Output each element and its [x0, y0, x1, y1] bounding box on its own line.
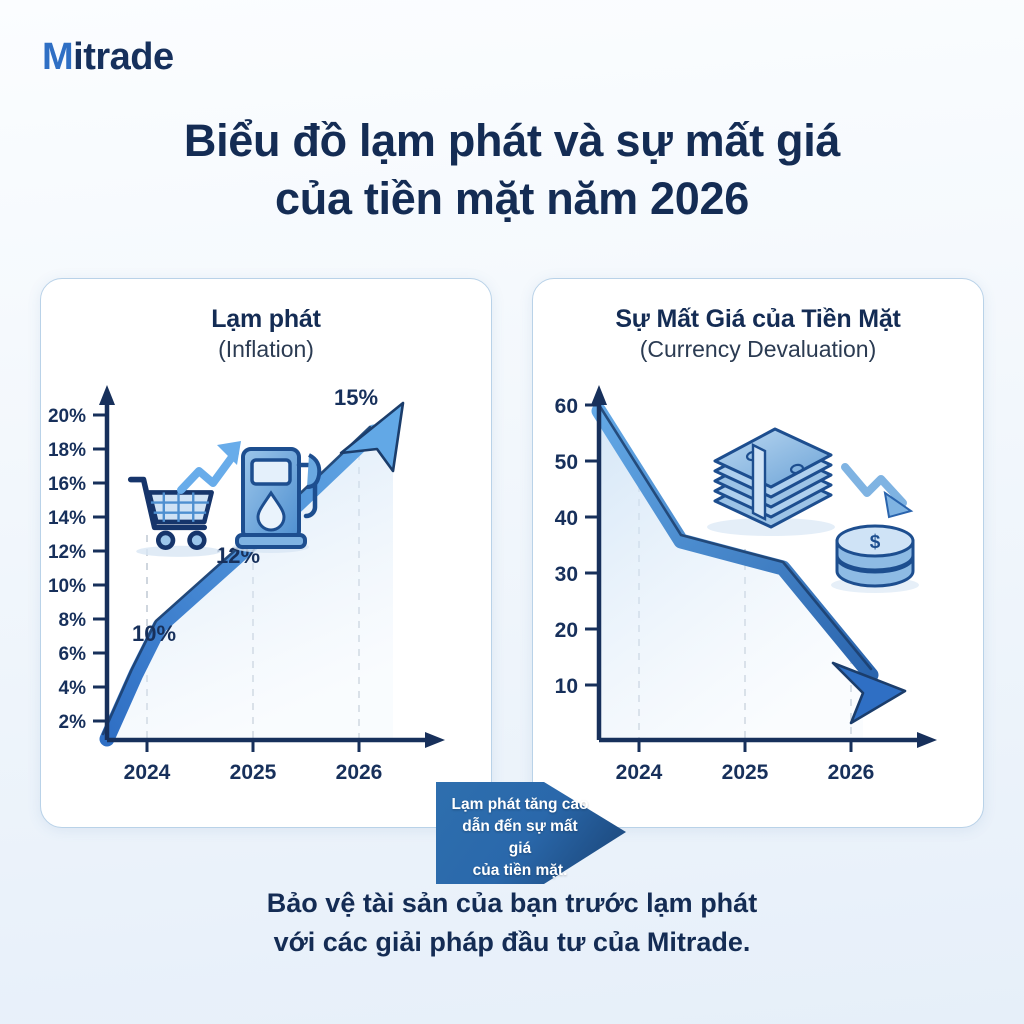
- inflation-panel-header: Lạm phát (Inflation): [41, 305, 491, 363]
- page-title-line-1: Biểu đồ lạm phát và sự mất giá: [50, 112, 974, 170]
- connector-arrow-text: Lạm phát tăng cao dẫn đến sự mất giá của…: [450, 794, 590, 882]
- y-tick-label: 8%: [59, 610, 87, 631]
- data-label-2026: 15%: [334, 385, 378, 410]
- x-tick-labels: 2024 2025 2026: [124, 761, 383, 784]
- x-tick-labels: 2024 2025 2026: [616, 761, 875, 784]
- logo-initial: M: [42, 36, 73, 78]
- coin-stack-icon: $: [831, 526, 919, 593]
- devaluation-panel-header: Sự Mất Giá của Tiền Mặt (Currency Devalu…: [533, 305, 983, 363]
- inflation-subtitle: (Inflation): [41, 336, 491, 363]
- y-tick-label: 50: [555, 451, 578, 474]
- y-axis-arrow: [99, 385, 115, 405]
- connector-line-1: Lạm phát tăng cao: [450, 794, 590, 816]
- inflation-chart-svg: 2% 4% 6% 8% 10% 12% 14% 16% 18% 20%: [41, 375, 492, 828]
- x-tick-label: 2025: [722, 761, 769, 784]
- charts-container: Lạm phát (Inflation): [40, 278, 984, 828]
- logo-wordmark: itrade: [73, 36, 173, 78]
- y-tick-label: 40: [555, 507, 578, 530]
- x-axis-arrow: [917, 732, 937, 748]
- x-tick-label: 2024: [124, 761, 171, 784]
- banknote-stack-icon: [707, 429, 835, 536]
- y-tick-label: 14%: [48, 508, 86, 529]
- devaluation-title: Sự Mất Giá của Tiền Mặt: [533, 305, 983, 334]
- connector-line-2: dẫn đến sự mất giá: [450, 816, 590, 860]
- inflation-chart: 2% 4% 6% 8% 10% 12% 14% 16% 18% 20%: [41, 375, 492, 828]
- y-tick-label: 60: [555, 395, 578, 418]
- y-tick-label: 6%: [59, 644, 87, 665]
- y-tick-label: 16%: [48, 474, 86, 495]
- devaluation-subtitle: (Currency Devaluation): [533, 336, 983, 363]
- inflation-title: Lạm phát: [41, 305, 491, 334]
- connector-line-3: của tiền mặt.: [450, 860, 590, 882]
- y-tick-label: 10: [555, 675, 578, 698]
- dollar-symbol: $: [870, 532, 881, 553]
- y-tick-label: 18%: [48, 440, 86, 461]
- x-tick-label: 2026: [336, 761, 383, 784]
- y-tick-labels: 2% 4% 6% 8% 10% 12% 14% 16% 18% 20%: [48, 406, 86, 733]
- y-tick-label: 2%: [59, 712, 87, 733]
- y-tick-labels: 10 20 30 40 50 60: [555, 395, 578, 698]
- page-title: Biểu đồ lạm phát và sự mất giá của tiền …: [0, 112, 1024, 227]
- rising-arrow-icon: [181, 441, 241, 490]
- y-axis-arrow: [591, 385, 607, 405]
- falling-arrow-icon: [845, 467, 911, 517]
- shopping-cart-icon: [131, 480, 221, 557]
- data-label-2024: 10%: [132, 621, 176, 646]
- brand-logo: Mitrade: [42, 38, 174, 76]
- y-tick-label: 20%: [48, 406, 86, 427]
- y-tick-label: 4%: [59, 678, 87, 699]
- footer-line-2: với các giải pháp đầu tư của Mitrade.: [110, 923, 914, 962]
- y-tick-label: 20: [555, 619, 578, 642]
- x-tick-label: 2025: [230, 761, 277, 784]
- y-tick-label: 12%: [48, 542, 86, 563]
- inflation-panel: Lạm phát (Inflation): [40, 278, 492, 828]
- page-title-line-2: của tiền mặt năm 2026: [50, 170, 974, 228]
- connector-arrow: Lạm phát tăng cao dẫn đến sự mất giá của…: [436, 744, 632, 920]
- y-tick-label: 30: [555, 563, 578, 586]
- y-tick-label: 10%: [48, 576, 86, 597]
- x-tick-label: 2026: [828, 761, 875, 784]
